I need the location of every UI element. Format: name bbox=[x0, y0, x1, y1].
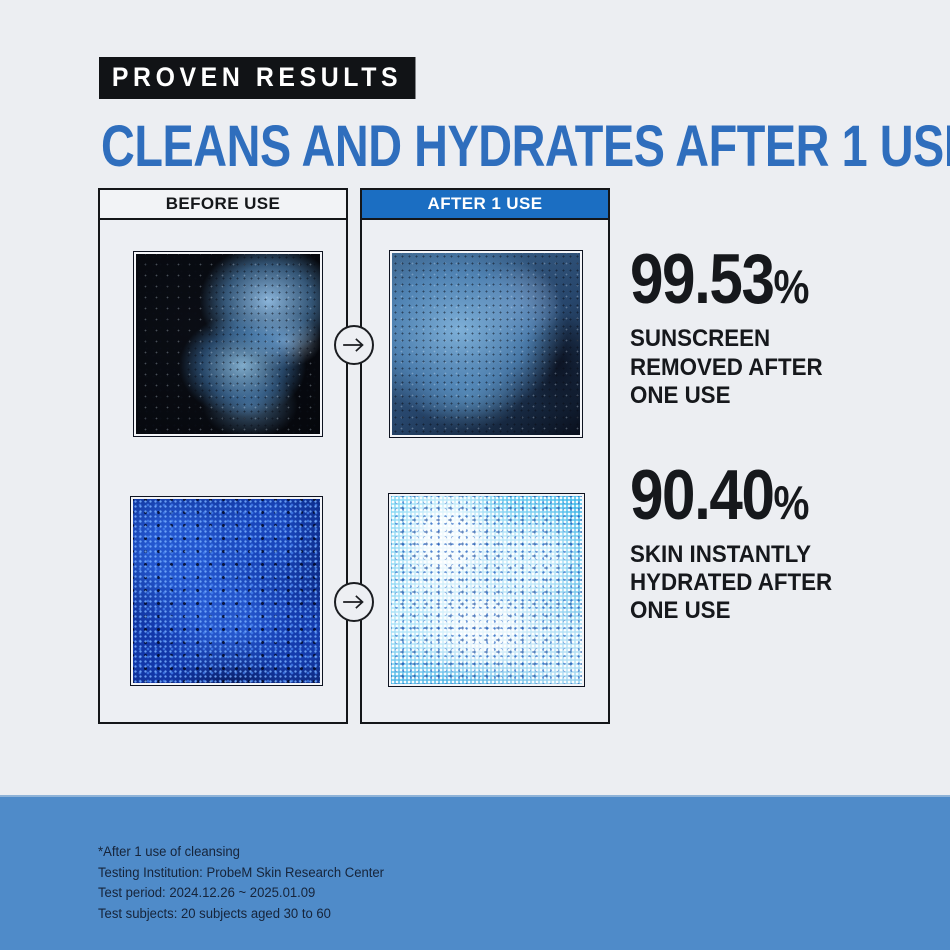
stat-description: SKIN INSTANTLY HYDRATED AFTER ONE USE bbox=[630, 541, 872, 625]
stat-sunscreen-removed: 99.53% SUNSCREEN REMOVED AFTER ONE USE bbox=[630, 246, 890, 410]
footer-band: *After 1 use of cleansing Testing Instit… bbox=[0, 795, 950, 950]
eyebrow-badge: PROVEN RESULTS bbox=[99, 57, 415, 99]
footnotes: *After 1 use of cleansing Testing Instit… bbox=[98, 842, 384, 924]
image-hydration-after bbox=[389, 494, 584, 686]
stat-percent-sign: % bbox=[773, 261, 808, 314]
arrow-indicator-bottom bbox=[330, 578, 378, 626]
panel-after-header: AFTER 1 USE bbox=[360, 188, 610, 220]
panel-after: AFTER 1 USE bbox=[360, 188, 610, 724]
image-hydration-before bbox=[131, 497, 322, 685]
stat-skin-hydrated: 90.40% SKIN INSTANTLY HYDRATED AFTER ONE… bbox=[630, 462, 890, 626]
stat-description-line: HYDRATED AFTER bbox=[630, 569, 872, 597]
stat-number: 90.40 bbox=[630, 455, 773, 534]
stat-description-line: SKIN INSTANTLY bbox=[630, 541, 872, 569]
stat-description-line: SUNSCREEN bbox=[630, 325, 872, 353]
arrow-indicator-top bbox=[330, 321, 378, 369]
footnote-line: *After 1 use of cleansing bbox=[98, 842, 384, 863]
footnote-line: Test subjects: 20 subjects aged 30 to 60 bbox=[98, 904, 384, 925]
footnote-line: Test period: 2024.12.26 ~ 2025.01.09 bbox=[98, 883, 384, 904]
page-headline: CLEANS AND HYDRATES AFTER 1 USE bbox=[101, 118, 950, 176]
panel-before: BEFORE USE bbox=[98, 188, 348, 724]
stat-description-line: REMOVED AFTER bbox=[630, 354, 872, 382]
stat-value: 90.40% bbox=[630, 462, 874, 530]
stat-percent-sign: % bbox=[773, 477, 808, 530]
panel-after-body bbox=[360, 220, 610, 724]
statistics-column: 99.53% SUNSCREEN REMOVED AFTER ONE USE 9… bbox=[630, 246, 890, 677]
panel-before-header: BEFORE USE bbox=[98, 188, 348, 220]
stat-description-line: ONE USE bbox=[630, 382, 872, 410]
panel-before-body bbox=[98, 220, 348, 724]
stat-number: 99.53 bbox=[630, 239, 773, 318]
before-after-comparison: BEFORE USE AFTER 1 USE bbox=[98, 188, 610, 724]
arrow-right-icon bbox=[334, 325, 374, 365]
image-uv-face-before bbox=[134, 252, 322, 436]
stat-description-line: ONE USE bbox=[630, 597, 872, 625]
arrow-right-icon bbox=[334, 582, 374, 622]
stat-description: SUNSCREEN REMOVED AFTER ONE USE bbox=[630, 325, 872, 409]
stat-value: 99.53% bbox=[630, 246, 874, 314]
footnote-line: Testing Institution: ProbeM Skin Researc… bbox=[98, 863, 384, 884]
image-uv-face-after bbox=[390, 251, 582, 437]
